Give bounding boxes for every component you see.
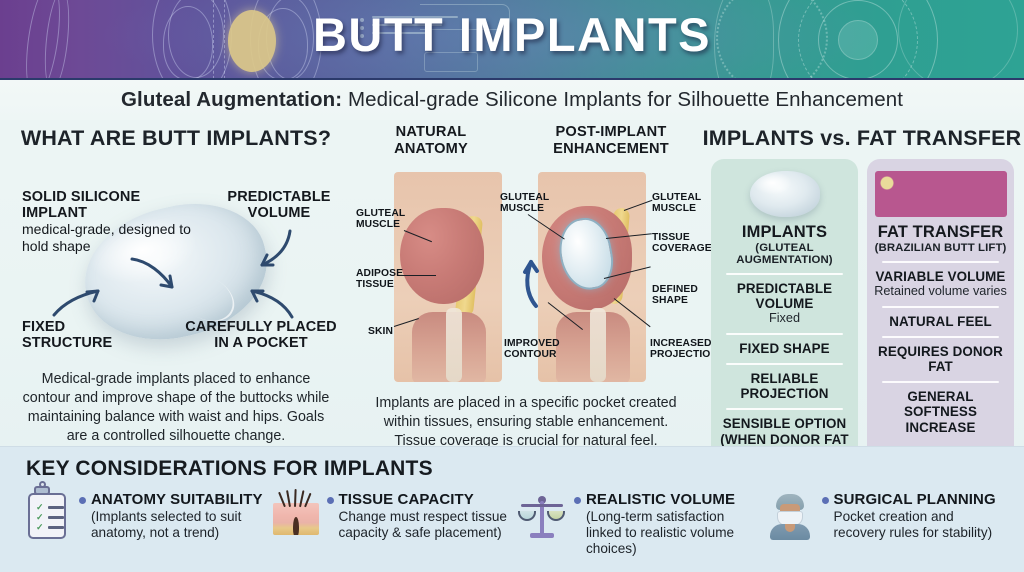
consideration-text: REALISTIC VOLUME (Long-term satisfaction…: [574, 489, 761, 557]
feature-head: RELIABLE PROJECTION: [718, 371, 851, 401]
section-anatomy-comparison: NATURAL ANATOMY POST-IMPLANT ENHANCEMENT: [352, 120, 700, 451]
hair-icon: [294, 489, 296, 507]
fat-tissue-histology-icon: [875, 171, 1007, 217]
feature-head: FIXED SHAPE: [718, 341, 851, 356]
natural-anatomy-figure: [394, 172, 502, 382]
consideration-heading-text: REALISTIC VOLUME: [586, 491, 735, 508]
subtitle-rest: Medical-grade Silicone Implants for Silh…: [342, 88, 903, 111]
clipboard-line: [48, 526, 64, 529]
clipboard-checklist-icon: ✓ ✓ ✓: [22, 491, 72, 541]
check-icon: ✓: [36, 514, 43, 521]
bottom-section-title: KEY CONSIDERATIONS FOR IMPLANTS: [0, 447, 1024, 481]
subtitle: Gluteal Augmentation: Medical-grade Sili…: [121, 88, 903, 112]
leader-line: [400, 275, 436, 276]
consideration-body: Pocket creation and recovery rules for s…: [822, 509, 1009, 541]
label-title: CAREFULLY PLACED IN A POCKET: [176, 319, 346, 351]
card-divider: [882, 306, 999, 308]
anatomy-label-improved-contour: IMPROVED CONTOUR: [504, 338, 558, 361]
card-implants[interactable]: IMPLANTS (GLUTEAL AUGMENTATION) PREDICTA…: [711, 159, 858, 472]
consideration-body: Change must respect tissue capacity & sa…: [327, 509, 514, 541]
subtitle-bold: Gluteal Augmentation:: [121, 88, 342, 111]
label-solid-silicone-implant: SOLID SILICONE IMPLANT medical-grade, de…: [22, 189, 197, 255]
section-implants-vs-fat-transfer: IMPLANTS vs. FAT TRANSFER IMPLANTS (GLUT…: [700, 120, 1024, 472]
card-title: FAT TRANSFER: [874, 223, 1007, 241]
label-sub: medical-grade, designed to hold shape: [22, 221, 197, 254]
implant-illustration: SOLID SILICONE IMPLANT medical-grade, de…: [0, 151, 352, 366]
consideration-heading-text: ANATOMY SUITABILITY: [91, 491, 263, 508]
consideration-text: SURGICAL PLANNING Pocket creation and re…: [822, 489, 1009, 541]
anatomy-label-adipose-tissue: ADIPOSE TISSUE: [356, 268, 406, 291]
consideration-text: ANATOMY SUITABILITY (Implants selected t…: [79, 489, 266, 541]
arrow-icon: [50, 273, 104, 319]
skin-cross-section: [273, 503, 319, 535]
right-section-heading: IMPLANTS vs. FAT TRANSFER: [700, 126, 1024, 151]
feature-head: PREDICTABLE VOLUME: [718, 281, 851, 311]
scale-pan-left: [518, 511, 536, 521]
clipboard-body: ✓ ✓ ✓: [28, 493, 66, 539]
tendon-icon: [590, 308, 606, 382]
consideration-heading: SURGICAL PLANNING: [822, 491, 1009, 508]
bullet-icon: [822, 497, 829, 504]
card-subtitle: (BRAZILIAN BUTT LIFT): [874, 242, 1007, 254]
consideration-anatomy-suitability: ✓ ✓ ✓: [22, 489, 266, 557]
label-title: PREDICTABLE VOLUME: [218, 189, 340, 221]
anatomy-label-tissue-coverage: TISSUE COVERAGE: [652, 232, 700, 255]
main-content: WHAT ARE BUTT IMPLANTS? SOLID SILICONE I…: [0, 120, 1024, 446]
card-divider: [726, 333, 843, 335]
heading-natural-anatomy: NATURAL ANATOMY: [366, 124, 496, 158]
comparison-cards: IMPLANTS (GLUTEAL AUGMENTATION) PREDICTA…: [700, 151, 1024, 472]
heading-post-implant: POST-IMPLANT ENHANCEMENT: [536, 124, 686, 158]
surgeon-icon: [765, 491, 815, 541]
card-divider: [882, 261, 999, 263]
header-banner: BUTT IMPLANTS: [0, 0, 1024, 80]
clipboard-ring: [39, 481, 46, 488]
card-divider: [726, 273, 843, 275]
arrow-icon: [250, 227, 298, 271]
middle-blurb: Implants are placed in a specific pocket…: [352, 394, 700, 451]
consideration-text: TISSUE CAPACITY Change must respect tiss…: [327, 489, 514, 541]
card-divider: [726, 363, 843, 365]
arrow-icon: [246, 275, 298, 321]
scale-base: [530, 533, 554, 538]
anatomy-illustration: GLUTEAL MUSCLE ADIPOSE TISSUE SKIN GLUTE…: [352, 158, 700, 390]
clipboard-line: [48, 516, 64, 519]
bullet-icon: [327, 497, 334, 504]
infographic-page: BUTT IMPLANTS Gluteal Augmentation: Medi…: [0, 0, 1024, 572]
anatomy-label-gluteal-muscle-left: GLUTEAL MUSCLE: [500, 192, 550, 215]
clipboard-line: [48, 506, 64, 509]
consideration-heading: REALISTIC VOLUME: [574, 491, 761, 508]
card-divider: [726, 408, 843, 410]
scrubs-neckline: [785, 524, 795, 532]
label-title: FIXED STRUCTURE: [22, 319, 152, 351]
left-blurb: Medical-grade implants placed to enhance…: [0, 370, 352, 446]
considerations-row: ✓ ✓ ✓: [0, 481, 1024, 557]
arrow-icon: [128, 255, 180, 297]
card-divider: [882, 381, 999, 383]
hair-follicle-icon: [293, 517, 299, 535]
consideration-heading-text: TISSUE CAPACITY: [339, 491, 474, 508]
card-subtitle: (GLUTEAL AUGMENTATION): [718, 242, 851, 266]
consideration-body: (Long-term satisfaction linked to realis…: [574, 509, 761, 557]
anatomy-label-defined-shape: DEFINED SHAPE: [652, 284, 698, 307]
feature-head: NATURAL FEEL: [874, 314, 1007, 329]
label-predictable-volume: PREDICTABLE VOLUME: [218, 189, 340, 221]
check-icon: ✓: [36, 524, 43, 531]
card-fat-transfer[interactable]: FAT TRANSFER (BRAZILIAN BUTT LIFT) VARIA…: [867, 159, 1014, 472]
upward-arrow-icon: [520, 256, 542, 315]
bullet-icon: [574, 497, 581, 504]
feature-sub: Retained volume varies: [874, 284, 1007, 299]
consideration-realistic-volume: REALISTIC VOLUME (Long-term satisfaction…: [517, 489, 761, 557]
bullet-icon: [79, 497, 86, 504]
left-section-heading: WHAT ARE BUTT IMPLANTS?: [0, 126, 352, 151]
scale-beam: [521, 504, 563, 507]
label-carefully-placed-in-pocket: CAREFULLY PLACED IN A POCKET: [176, 319, 346, 351]
consideration-body: (Implants selected to suit anatomy, not …: [79, 509, 266, 541]
feature-sub: Fixed: [718, 311, 851, 326]
feature-head: REQUIRES DONOR FAT: [874, 344, 1007, 374]
label-fixed-structure: FIXED STRUCTURE: [22, 319, 152, 351]
anatomy-label-increased-projection: INCREASED PROJECTION: [650, 338, 702, 361]
feature-head: VARIABLE VOLUME: [874, 269, 1007, 284]
consideration-heading: TISSUE CAPACITY: [327, 491, 514, 508]
consideration-heading: ANATOMY SUITABILITY: [79, 491, 266, 508]
silicone-implant-icon: [750, 171, 820, 217]
anatomy-label-skin: SKIN: [368, 326, 398, 337]
feature-head: GENERAL SOFTNESS INCREASE: [874, 389, 1007, 434]
subtitle-band: Gluteal Augmentation: Medical-grade Sili…: [0, 80, 1024, 120]
anatomy-label-gluteal-muscle: GLUTEAL MUSCLE: [356, 208, 414, 231]
consideration-heading-text: SURGICAL PLANNING: [834, 491, 996, 508]
label-title: SOLID SILICONE IMPLANT: [22, 189, 197, 221]
anatomy-headings: NATURAL ANATOMY POST-IMPLANT ENHANCEMENT: [352, 120, 700, 158]
card-divider: [882, 336, 999, 338]
consideration-surgical-planning: SURGICAL PLANNING Pocket creation and re…: [765, 489, 1009, 557]
check-icon: ✓: [36, 504, 43, 511]
balance-scale-icon: [517, 491, 567, 541]
skin-layers-icon: [270, 491, 320, 541]
section-what-are-implants: WHAT ARE BUTT IMPLANTS? SOLID SILICONE I…: [0, 120, 352, 446]
scale-pan-right: [547, 511, 565, 521]
key-considerations-section: KEY CONSIDERATIONS FOR IMPLANTS ✓ ✓: [0, 446, 1024, 572]
tendon-icon: [446, 308, 462, 382]
consideration-tissue-capacity: TISSUE CAPACITY Change must respect tiss…: [270, 489, 514, 557]
anatomy-label-gluteal-muscle-right: GLUTEAL MUSCLE: [652, 192, 700, 215]
page-title: BUTT IMPLANTS: [0, 7, 1024, 62]
card-title: IMPLANTS: [718, 223, 851, 241]
